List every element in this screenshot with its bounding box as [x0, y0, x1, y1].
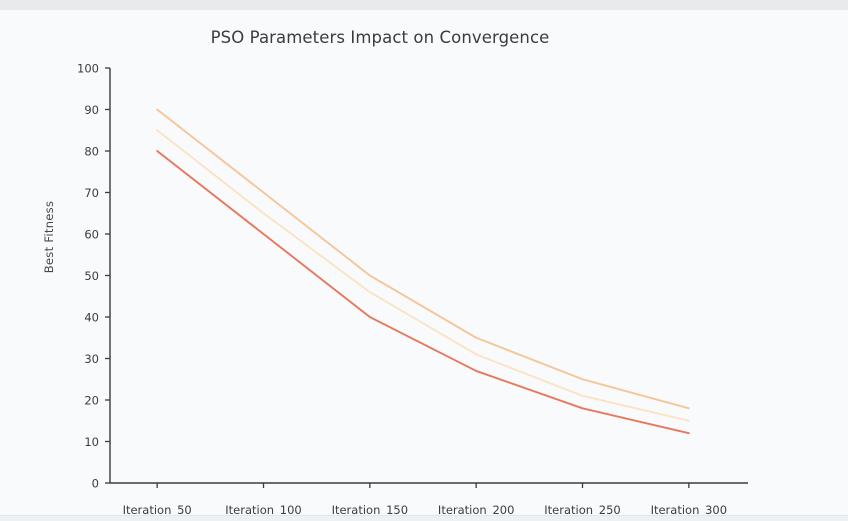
x-tick-label: Iteration_200	[438, 503, 514, 515]
plot-canvas: 0102030405060708090100 Iteration_50Itera…	[0, 10, 848, 515]
y-tick-label: 80	[84, 145, 99, 159]
y-tick-label: 90	[84, 103, 99, 117]
data-series-group	[157, 110, 689, 434]
x-tick-label: Iteration_50	[123, 503, 192, 515]
x-tick-label: Iteration_100	[225, 503, 301, 515]
bottom-edge-strip	[0, 515, 848, 521]
chart-figure: PSO Parameters Impact on Convergence Bes…	[0, 10, 848, 515]
y-tick-label: 10	[84, 435, 99, 449]
series-line-series-2	[157, 130, 689, 421]
y-tick-label: 50	[84, 269, 99, 283]
y-tick-label: 40	[84, 311, 99, 325]
y-tick-label: 100	[77, 62, 99, 76]
y-tick-label: 20	[84, 394, 99, 408]
y-tick-label: 30	[84, 352, 99, 366]
y-axis-ticks: 0102030405060708090100	[77, 62, 110, 491]
series-line-series-1	[157, 110, 689, 409]
y-tick-label: 60	[84, 228, 99, 242]
x-tick-label: Iteration_300	[651, 503, 727, 515]
x-axis-ticks: Iteration_50Iteration_100Iteration_150It…	[123, 483, 727, 515]
x-tick-label: Iteration_250	[544, 503, 620, 515]
y-tick-label: 70	[84, 186, 99, 200]
top-gray-band	[0, 0, 848, 10]
page-background: PSO Parameters Impact on Convergence Bes…	[0, 10, 848, 515]
x-tick-label: Iteration_150	[332, 503, 408, 515]
y-tick-label: 0	[92, 477, 99, 491]
